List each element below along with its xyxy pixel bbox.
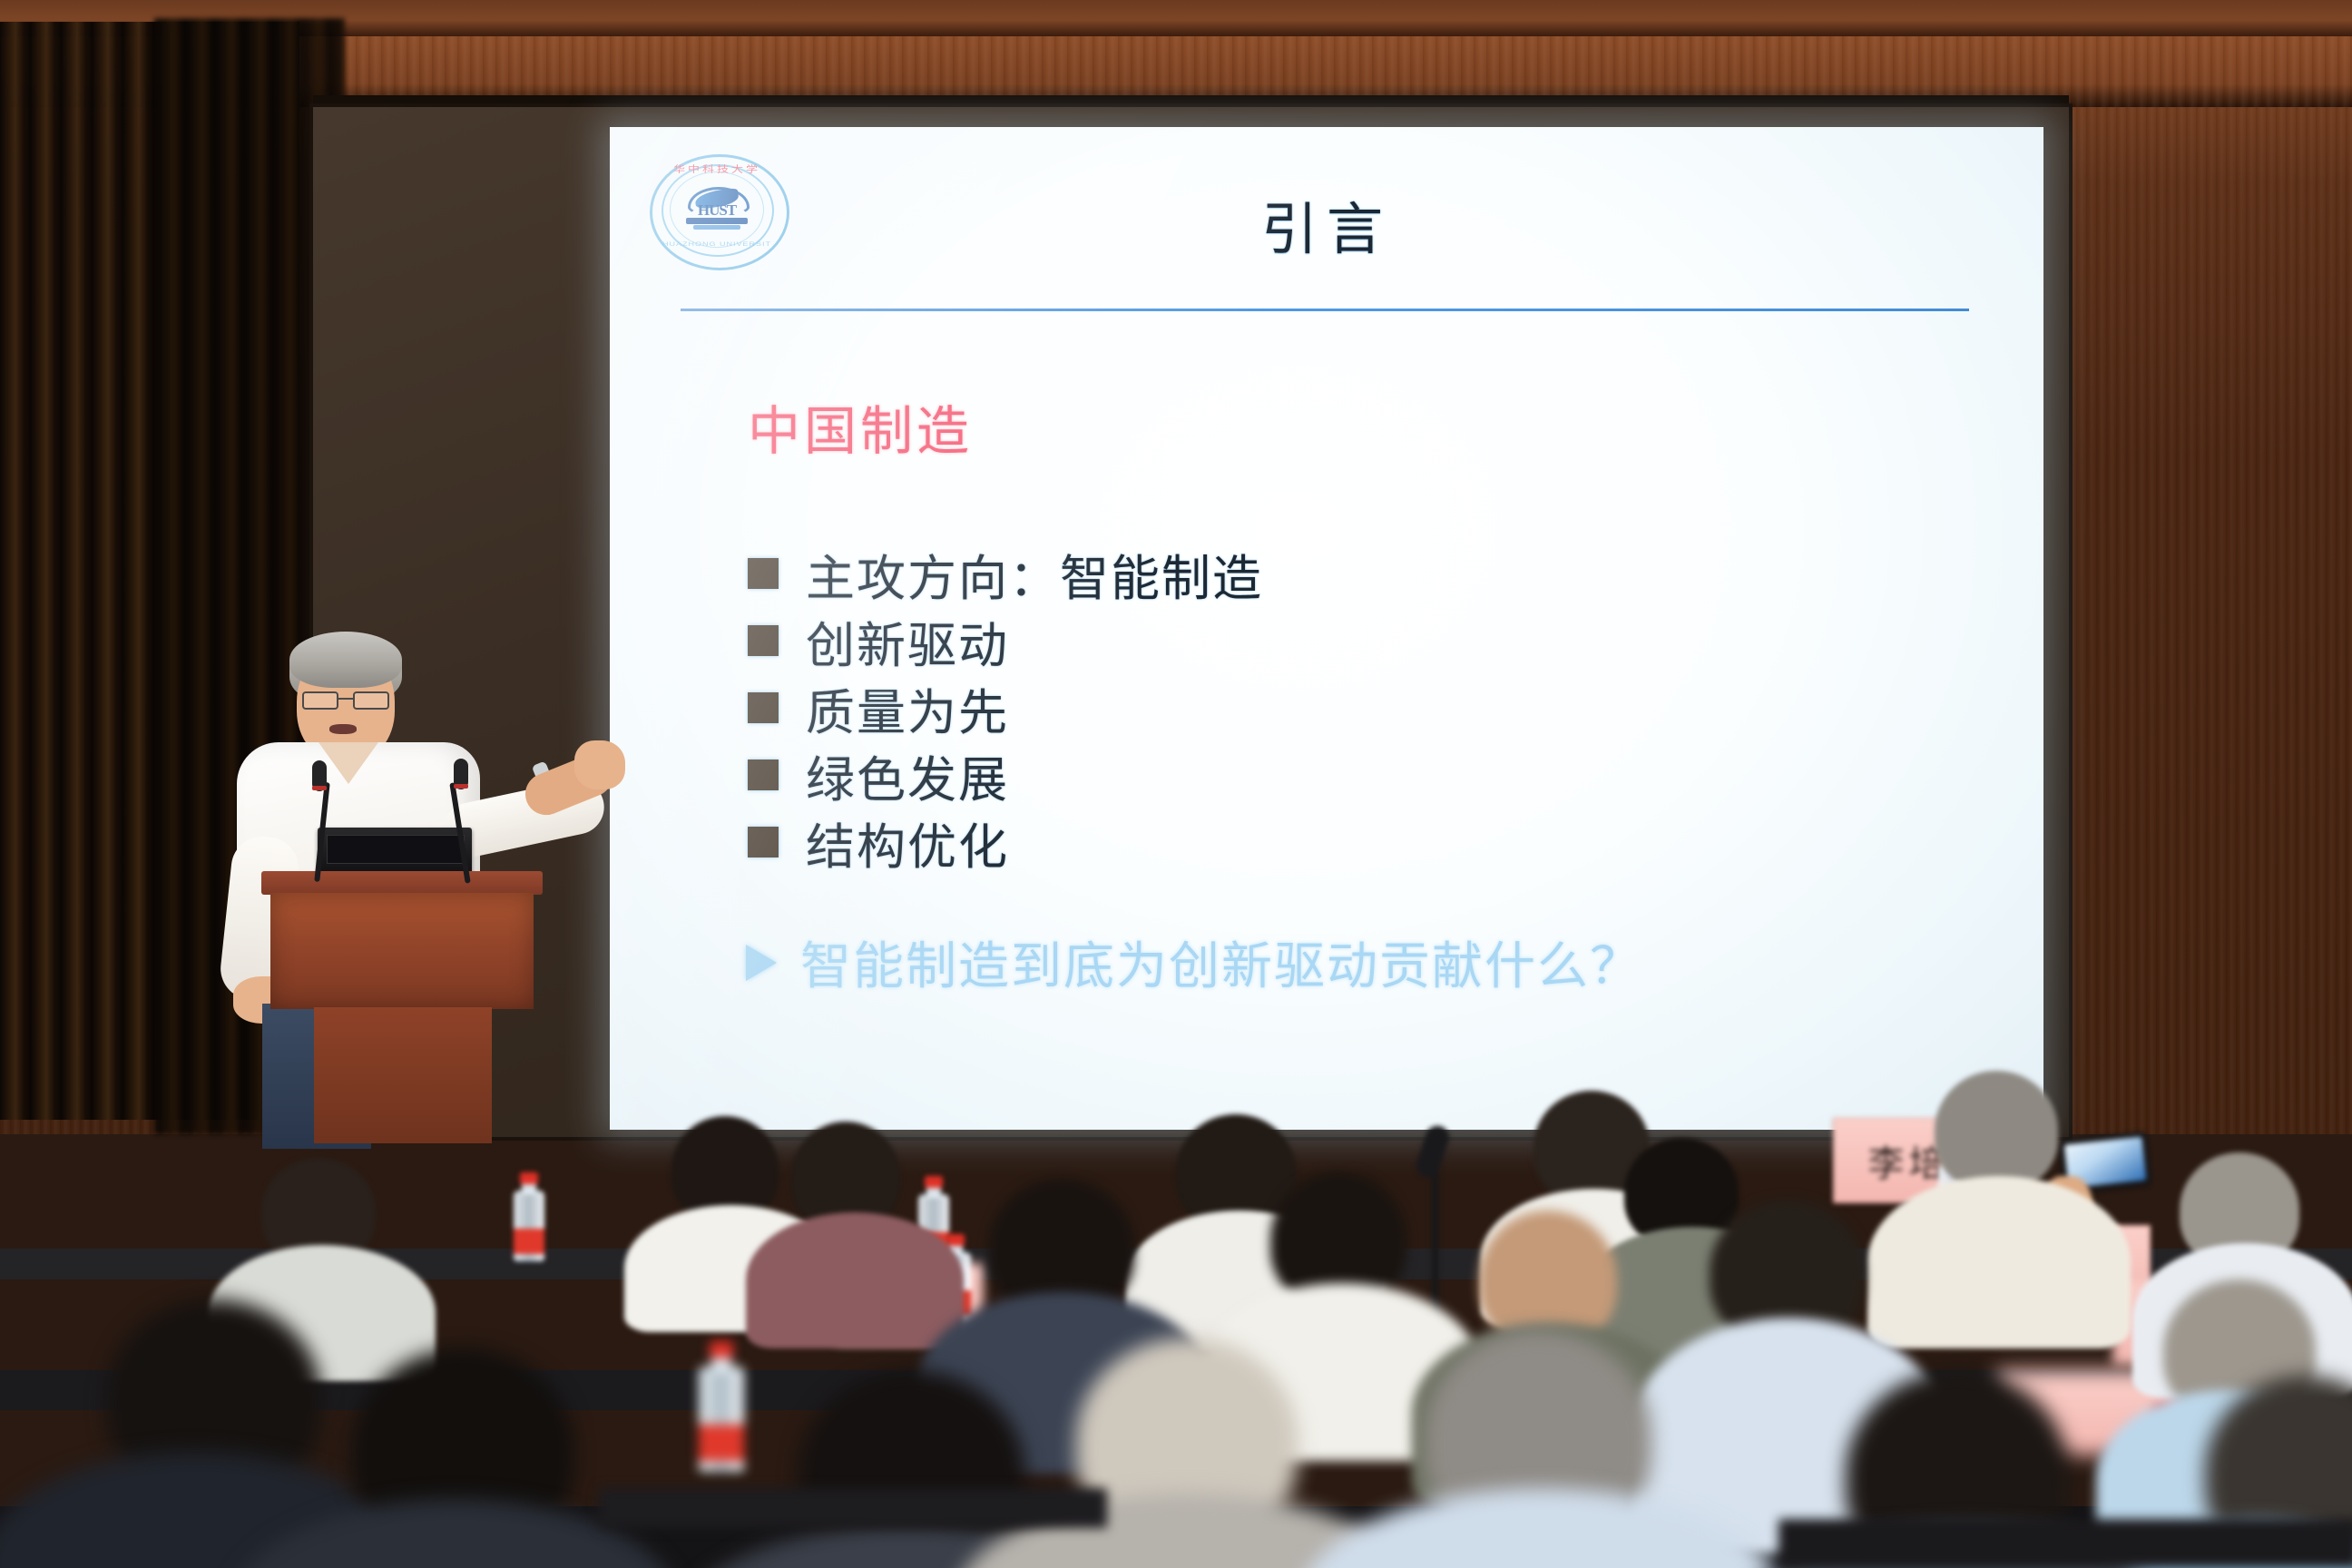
slide-title: 引言 xyxy=(610,183,2043,265)
bullet-text: 创新驱动 xyxy=(806,605,1009,677)
laptop xyxy=(318,828,472,875)
water-bottle xyxy=(514,1172,544,1261)
list-item: 结构优化 xyxy=(748,808,1263,876)
title-divider xyxy=(681,309,1969,311)
list-item: 绿色发展 xyxy=(748,741,1263,808)
audience-head xyxy=(1935,1071,2058,1191)
presenter-right-hand xyxy=(574,740,625,789)
slide-section-heading: 中国制造 xyxy=(748,388,973,465)
logo-top-arc-text: 华中科技大学 xyxy=(666,162,768,183)
list-item: 主攻方向：智能制造 xyxy=(748,540,1263,607)
arrow-bullet-icon xyxy=(746,945,777,981)
square-bullet-icon xyxy=(748,625,779,656)
square-bullet-icon xyxy=(748,759,779,790)
eyeglasses-icon xyxy=(302,691,389,706)
conference-table xyxy=(599,1488,1107,1528)
ceiling-edge xyxy=(0,0,2352,36)
conference-table xyxy=(1779,1519,2352,1568)
square-bullet-icon xyxy=(748,692,779,723)
podium-microphone-left-ring xyxy=(312,786,327,790)
lecture-hall-photo: 华中科技大学 HUST HUAZHONG UNIVERSITY OF SCIEN… xyxy=(0,0,2352,1568)
podium-microphone-right-ring xyxy=(454,784,468,789)
presenter-hair-top xyxy=(289,632,402,688)
list-item: 创新驱动 xyxy=(748,607,1263,674)
list-item: 质量为先 xyxy=(748,674,1263,741)
bullet-text: 绿色发展 xyxy=(806,740,1009,811)
square-bullet-icon xyxy=(748,827,779,857)
slide-bullet-list: 主攻方向：智能制造 创新驱动 质量为先 绿色发展 结构优化 xyxy=(748,540,1263,876)
podium-top-surface xyxy=(261,871,543,895)
bullet-text: 质量为先 xyxy=(806,672,1009,744)
audience-shoulders xyxy=(746,1212,964,1348)
square-bullet-icon xyxy=(748,558,779,589)
bullet-text: 结构优化 xyxy=(806,807,1009,878)
presenter-mouth xyxy=(329,724,357,734)
audience-shoulders xyxy=(1867,1176,2131,1348)
bullet-text: 主攻方向：智能制造 xyxy=(806,538,1263,610)
water-bottle xyxy=(699,1341,744,1472)
audience-area: 李培根 曾建 树 xyxy=(0,980,2352,1568)
